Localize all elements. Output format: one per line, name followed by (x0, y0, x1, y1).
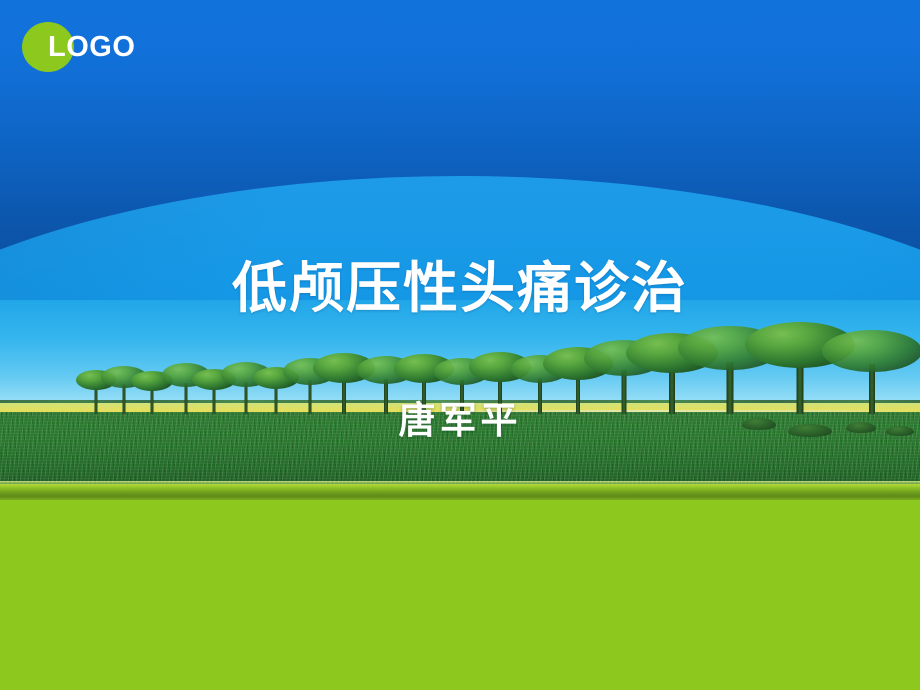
page-title: 低颅压性头痛诊治 (0, 255, 920, 321)
presenter-name: 唐军平 (0, 399, 920, 443)
bottom-green-panel (0, 500, 920, 690)
landscape-photo (0, 300, 920, 488)
presentation-slide: LOGO 低颅压性头痛诊治 唐军平 (0, 0, 920, 690)
logo[interactable]: LOGO (22, 22, 152, 76)
logo-text: LOGO (48, 28, 135, 66)
tree-canopy (822, 330, 920, 372)
divider-band (0, 484, 920, 500)
